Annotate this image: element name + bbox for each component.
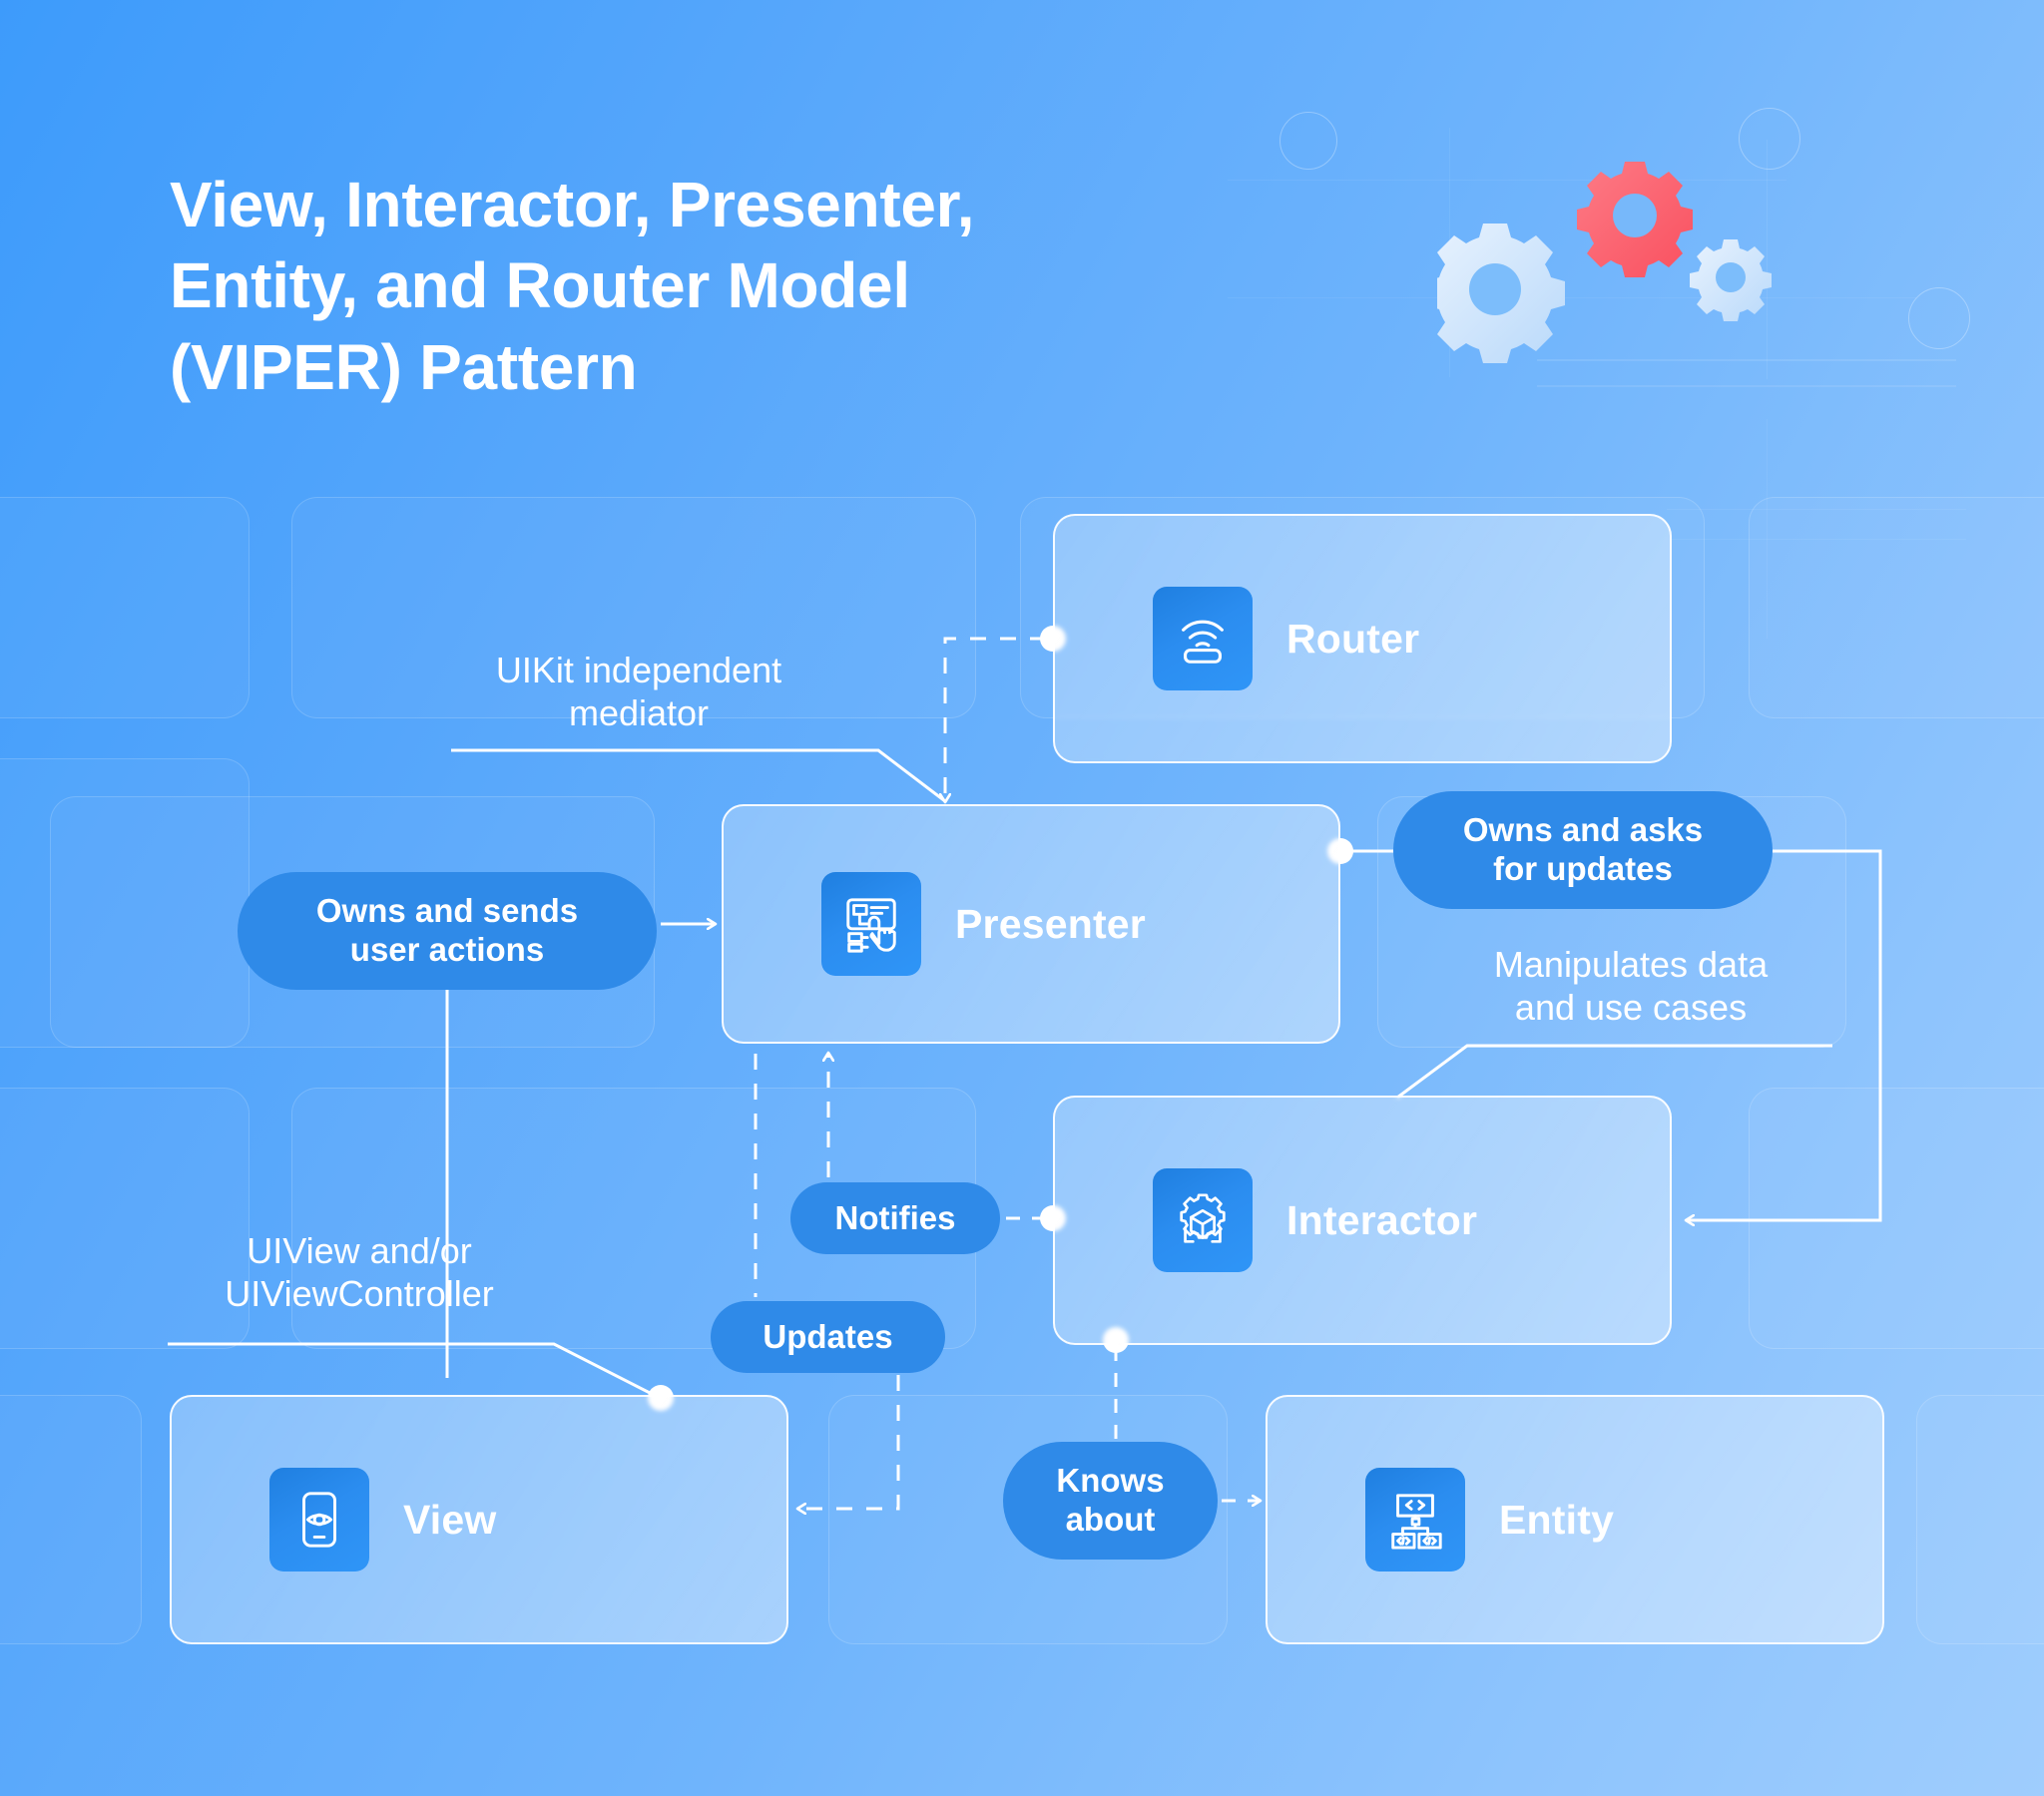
viper-diagram-canvas: View, Interactor, Presenter, Entity, and… <box>0 0 2044 1796</box>
node-interactor[interactable]: Interactor <box>1053 1096 1672 1345</box>
presentation-hand-icon <box>821 872 921 976</box>
node-presenter[interactable]: Presenter <box>722 804 1340 1044</box>
code-hierarchy-icon <box>1365 1468 1465 1571</box>
wire-router-to-presenter <box>945 639 1046 801</box>
node-router[interactable]: Router <box>1053 514 1672 763</box>
node-label: Entity <box>1499 1497 1614 1544</box>
annotation-uiview-uiviewcontroller: UIView and/or UIViewController <box>150 1229 569 1315</box>
wifi-router-icon <box>1153 587 1253 690</box>
node-view[interactable]: View <box>170 1395 788 1644</box>
node-label: Router <box>1286 616 1419 663</box>
leader-uiview <box>168 1344 654 1395</box>
annotation-uikit-independent-mediator: UIKit independent mediator <box>399 649 878 734</box>
pill-knows-about: Knows about <box>1003 1442 1218 1560</box>
pill-notifies: Notifies <box>790 1182 1000 1254</box>
node-entity[interactable]: Entity <box>1266 1395 1884 1644</box>
annotation-manipulates-data: Manipulates data and use cases <box>1421 943 1840 1029</box>
wire-updates-to-view <box>798 1375 898 1509</box>
pill-owns-and-sends-user-actions: Owns and sends user actions <box>238 872 657 990</box>
node-label: View <box>403 1497 497 1544</box>
pill-updates: Updates <box>711 1301 945 1373</box>
phone-eye-icon <box>269 1468 369 1571</box>
leader-manipulates <box>1397 1046 1832 1098</box>
pill-owns-and-asks-for-updates: Owns and asks for updates <box>1393 791 1773 909</box>
gear-cube-icon <box>1153 1168 1253 1272</box>
node-label: Interactor <box>1286 1197 1477 1244</box>
leader-uikit <box>451 750 945 801</box>
node-label: Presenter <box>955 901 1146 948</box>
